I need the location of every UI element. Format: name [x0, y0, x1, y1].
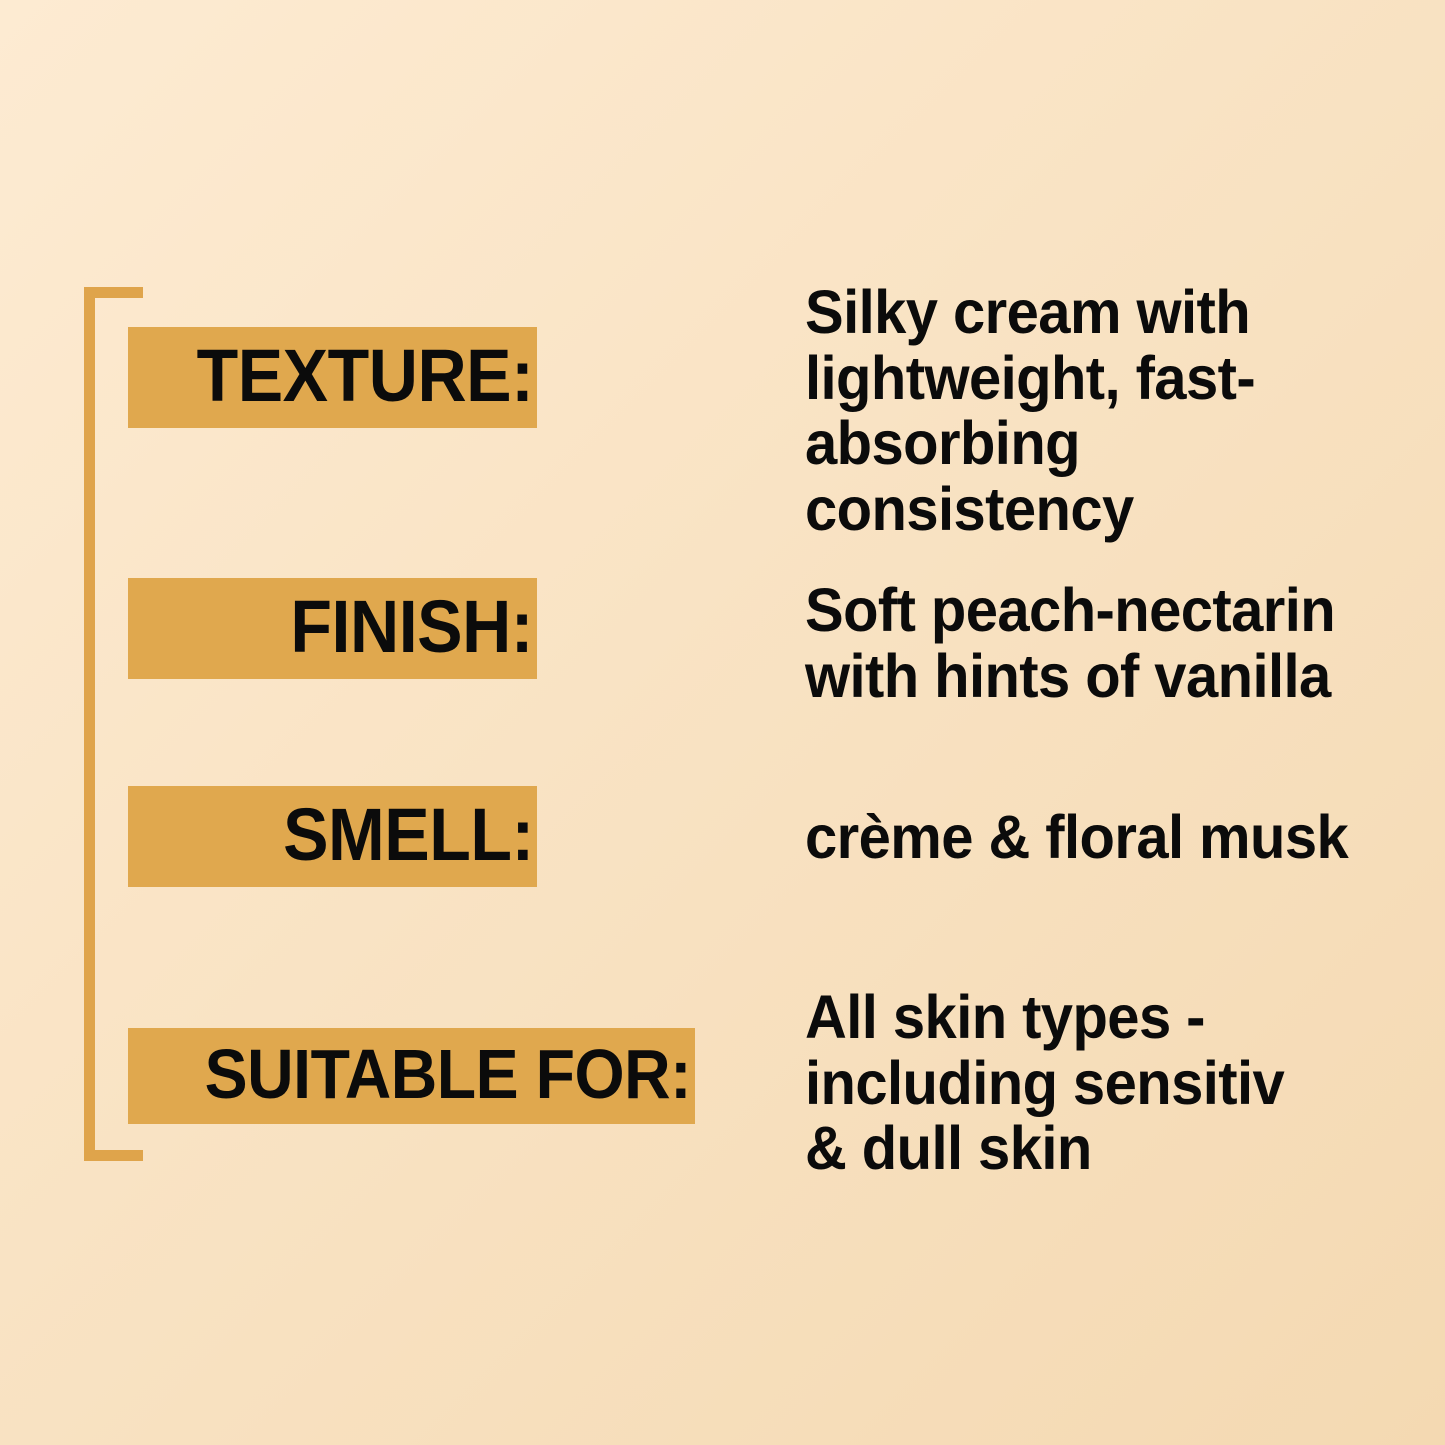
spec-label-chip-texture: TEXTURE:: [128, 327, 537, 428]
bracket-top-foot: [84, 287, 143, 298]
spec-label-suitable-for: SUITABLE FOR:: [205, 1039, 695, 1113]
spec-label-chip-finish: FINISH:: [128, 578, 537, 679]
spec-label-texture: TEXTURE:: [197, 339, 537, 417]
spec-description-smell: crème & floral musk: [805, 805, 1404, 871]
bracket-stem: [84, 287, 95, 1161]
spec-label-chip-smell: SMELL:: [128, 786, 537, 887]
spec-description-texture: Silky cream with lightweight, fast- abso…: [805, 280, 1404, 542]
spec-label-finish: FINISH:: [291, 590, 537, 668]
spec-description-finish: Soft peach-nectarin with hints of vanill…: [805, 578, 1404, 709]
spec-label-smell: SMELL:: [283, 798, 537, 876]
bracket-bottom-foot: [84, 1150, 143, 1161]
spec-description-suitable-for: All skin types - including sensitiv & du…: [805, 985, 1404, 1182]
spec-label-chip-suitable-for: SUITABLE FOR:: [128, 1028, 695, 1124]
